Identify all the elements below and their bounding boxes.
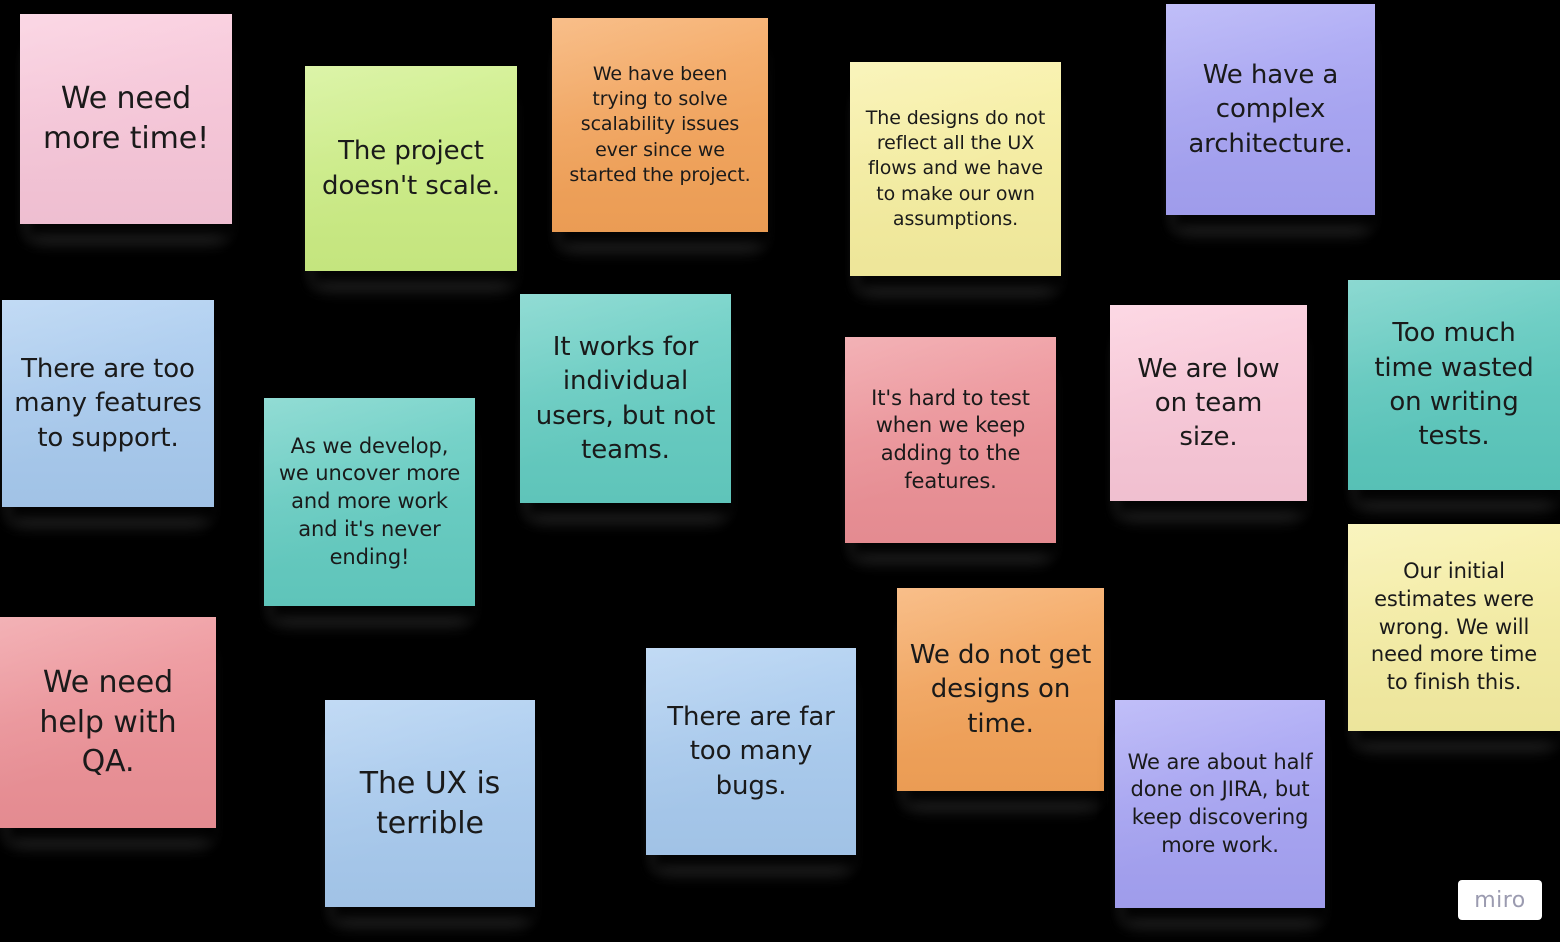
sticky-note-text: The UX is terrible <box>337 764 523 843</box>
sticky-note-project-doesnt-scale[interactable]: The project doesn't scale. <box>305 66 517 271</box>
miro-watermark: miro <box>1458 880 1542 920</box>
miro-logo-text: miro <box>1474 888 1526 913</box>
sticky-note-text: We do not get designs on time. <box>909 638 1092 741</box>
sticky-note-text: We have been trying to solve scalability… <box>564 62 756 187</box>
sticky-note-text: We are about half done on JIRA, but keep… <box>1127 749 1313 860</box>
sticky-note-text: We have a complex architecture. <box>1178 58 1363 161</box>
sticky-note-complex-architecture[interactable]: We have a complex architecture. <box>1166 4 1375 215</box>
sticky-note-designs-not-on-time[interactable]: We do not get designs on time. <box>897 588 1104 791</box>
sticky-note-text: It works for individual users, but not t… <box>532 330 719 467</box>
sticky-note-too-many-features[interactable]: There are too many features to support. <box>2 300 214 507</box>
sticky-note-we-need-more-time[interactable]: We need more time! <box>20 14 232 224</box>
sticky-note-never-ending-work[interactable]: As we develop, we uncover more and more … <box>264 398 475 606</box>
sticky-note-text: As we develop, we uncover more and more … <box>276 433 463 572</box>
sticky-note-far-too-many-bugs[interactable]: There are far too many bugs. <box>646 648 856 855</box>
sticky-note-initial-estimates-wrong[interactable]: Our initial estimates were wrong. We wil… <box>1348 524 1560 731</box>
sticky-note-designs-missing-ux-flows[interactable]: The designs do not reflect all the UX fl… <box>850 62 1061 276</box>
sticky-note-text: Our initial estimates were wrong. We wil… <box>1360 558 1548 697</box>
sticky-note-works-for-individuals[interactable]: It works for individual users, but not t… <box>520 294 731 503</box>
sticky-note-need-help-with-qa[interactable]: We need help with QA. <box>0 617 216 828</box>
sticky-note-hard-to-test[interactable]: It's hard to test when we keep adding to… <box>845 337 1056 543</box>
sticky-note-text: We are low on team size. <box>1122 352 1295 455</box>
sticky-note-low-team-size[interactable]: We are low on team size. <box>1110 305 1307 501</box>
sticky-note-jira-half-done[interactable]: We are about half done on JIRA, but keep… <box>1115 700 1325 908</box>
sticky-note-ux-is-terrible[interactable]: The UX is terrible <box>325 700 535 907</box>
sticky-note-text: The project doesn't scale. <box>317 134 505 203</box>
sticky-note-text: The designs do not reflect all the UX fl… <box>862 106 1049 231</box>
sticky-note-text: It's hard to test when we keep adding to… <box>857 385 1044 496</box>
sticky-note-text: There are too many features to support. <box>14 352 202 455</box>
sticky-note-time-wasted-tests[interactable]: Too much time wasted on writing tests. <box>1348 280 1560 490</box>
sticky-note-board[interactable]: We need more time!The project doesn't sc… <box>0 0 1560 942</box>
sticky-note-text: We need more time! <box>32 79 220 158</box>
sticky-note-text: Too much time wasted on writing tests. <box>1360 316 1548 453</box>
sticky-note-text: There are far too many bugs. <box>658 700 844 803</box>
sticky-note-text: We need help with QA. <box>12 663 204 782</box>
sticky-note-scalability-issues[interactable]: We have been trying to solve scalability… <box>552 18 768 232</box>
